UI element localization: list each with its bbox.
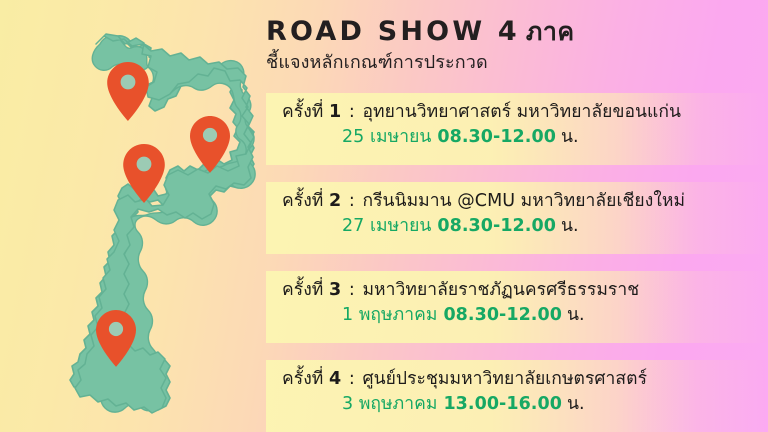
session-time-unit: น. [567,394,585,414]
session-venue-line: ครั้งที่ 4 : ศูนย์ประชุมมหาวิทยาลัยเกษตร… [266,366,768,392]
session-time: 13.00-16.00 [443,394,562,414]
session-month: พฤษภาคม [359,305,438,325]
session-month: เมษายน [370,216,431,236]
session-label: ครั้งที่ [282,102,323,122]
thailand-map-svg [18,14,266,422]
session-time-unit: น. [567,305,585,325]
thailand-map [18,14,266,422]
page-title: ROAD SHOW 4ภาค [266,16,766,47]
session-time-unit: น. [561,127,579,147]
session-date-line: 27 เมษายน08.30-12.00น. [266,214,768,239]
pin-chiang-mai[interactable] [107,62,149,121]
session-day: 27 [342,216,364,236]
session-month: พฤษภาคม [359,394,438,414]
session-separator: : [347,102,357,122]
title-thai: ภาค [526,17,575,46]
session-time: 08.30-12.00 [437,127,556,147]
session-separator: : [347,191,357,211]
session-label: ครั้งที่ [282,369,323,389]
title-latin: ROAD SHOW 4 [266,16,520,47]
session-date-line: 1 พฤษภาคม08.30-12.00น. [266,303,768,328]
session-row: ครั้งที่ 1 : อุทยานวิทยาศาสตร์ มหาวิทยาล… [266,93,768,165]
session-list: ครั้งที่ 1 : อุทยานวิทยาศาสตร์ มหาวิทยาล… [266,93,768,432]
session-date-line: 3 พฤษภาคม13.00-16.00น. [266,392,768,417]
map-land-group [70,34,255,413]
session-day: 1 [342,305,353,325]
content-column: ROAD SHOW 4ภาค ชี้แจงหลักเกณฑ์การประกวด … [266,0,768,432]
session-venue: อุทยานวิทยาศาสตร์ มหาวิทยาลัยขอนแก่น [362,102,681,122]
session-month: เมษายน [370,127,431,147]
session-separator: : [347,280,357,300]
session-row: ครั้งที่ 2 : กรีนนิมมาน @CMU มหาวิทยาลัย… [266,182,768,254]
session-number: 2 [329,191,341,211]
session-day: 3 [342,394,353,414]
session-number: 1 [329,102,341,122]
session-time: 08.30-12.00 [437,216,556,236]
heading-block: ROAD SHOW 4ภาค ชี้แจงหลักเกณฑ์การประกวด [266,16,766,74]
page-subtitle: ชี้แจงหลักเกณฑ์การประกวด [266,52,766,74]
session-label: ครั้งที่ [282,191,323,211]
session-number: 3 [329,280,341,300]
session-separator: : [347,369,357,389]
session-row: ครั้งที่ 4 : ศูนย์ประชุมมหาวิทยาลัยเกษตร… [266,360,768,432]
poster-canvas: ROAD SHOW 4ภาค ชี้แจงหลักเกณฑ์การประกวด … [0,0,768,432]
session-date-line: 25 เมษายน08.30-12.00น. [266,125,768,150]
session-venue-line: ครั้งที่ 2 : กรีนนิมมาน @CMU มหาวิทยาลัย… [266,188,768,214]
session-number: 4 [329,369,341,389]
session-venue: ศูนย์ประชุมมหาวิทยาลัยเกษตรศาสตร์ [362,369,647,389]
session-label: ครั้งที่ [282,280,323,300]
session-row: ครั้งที่ 3 : มหาวิทยาลัยราชภัฏนครศรีธรรม… [266,271,768,343]
session-venue-line: ครั้งที่ 1 : อุทยานวิทยาศาสตร์ มหาวิทยาล… [266,99,768,125]
session-time: 08.30-12.00 [443,305,562,325]
session-venue: มหาวิทยาลัยราชภัฏนครศรีธรรมราช [362,280,639,300]
session-venue-line: ครั้งที่ 3 : มหาวิทยาลัยราชภัฏนครศรีธรรม… [266,277,768,303]
session-day: 25 [342,127,364,147]
session-time-unit: น. [561,216,579,236]
session-venue: กรีนนิมมาน @CMU มหาวิทยาลัยเชียงใหม่ [362,191,685,211]
